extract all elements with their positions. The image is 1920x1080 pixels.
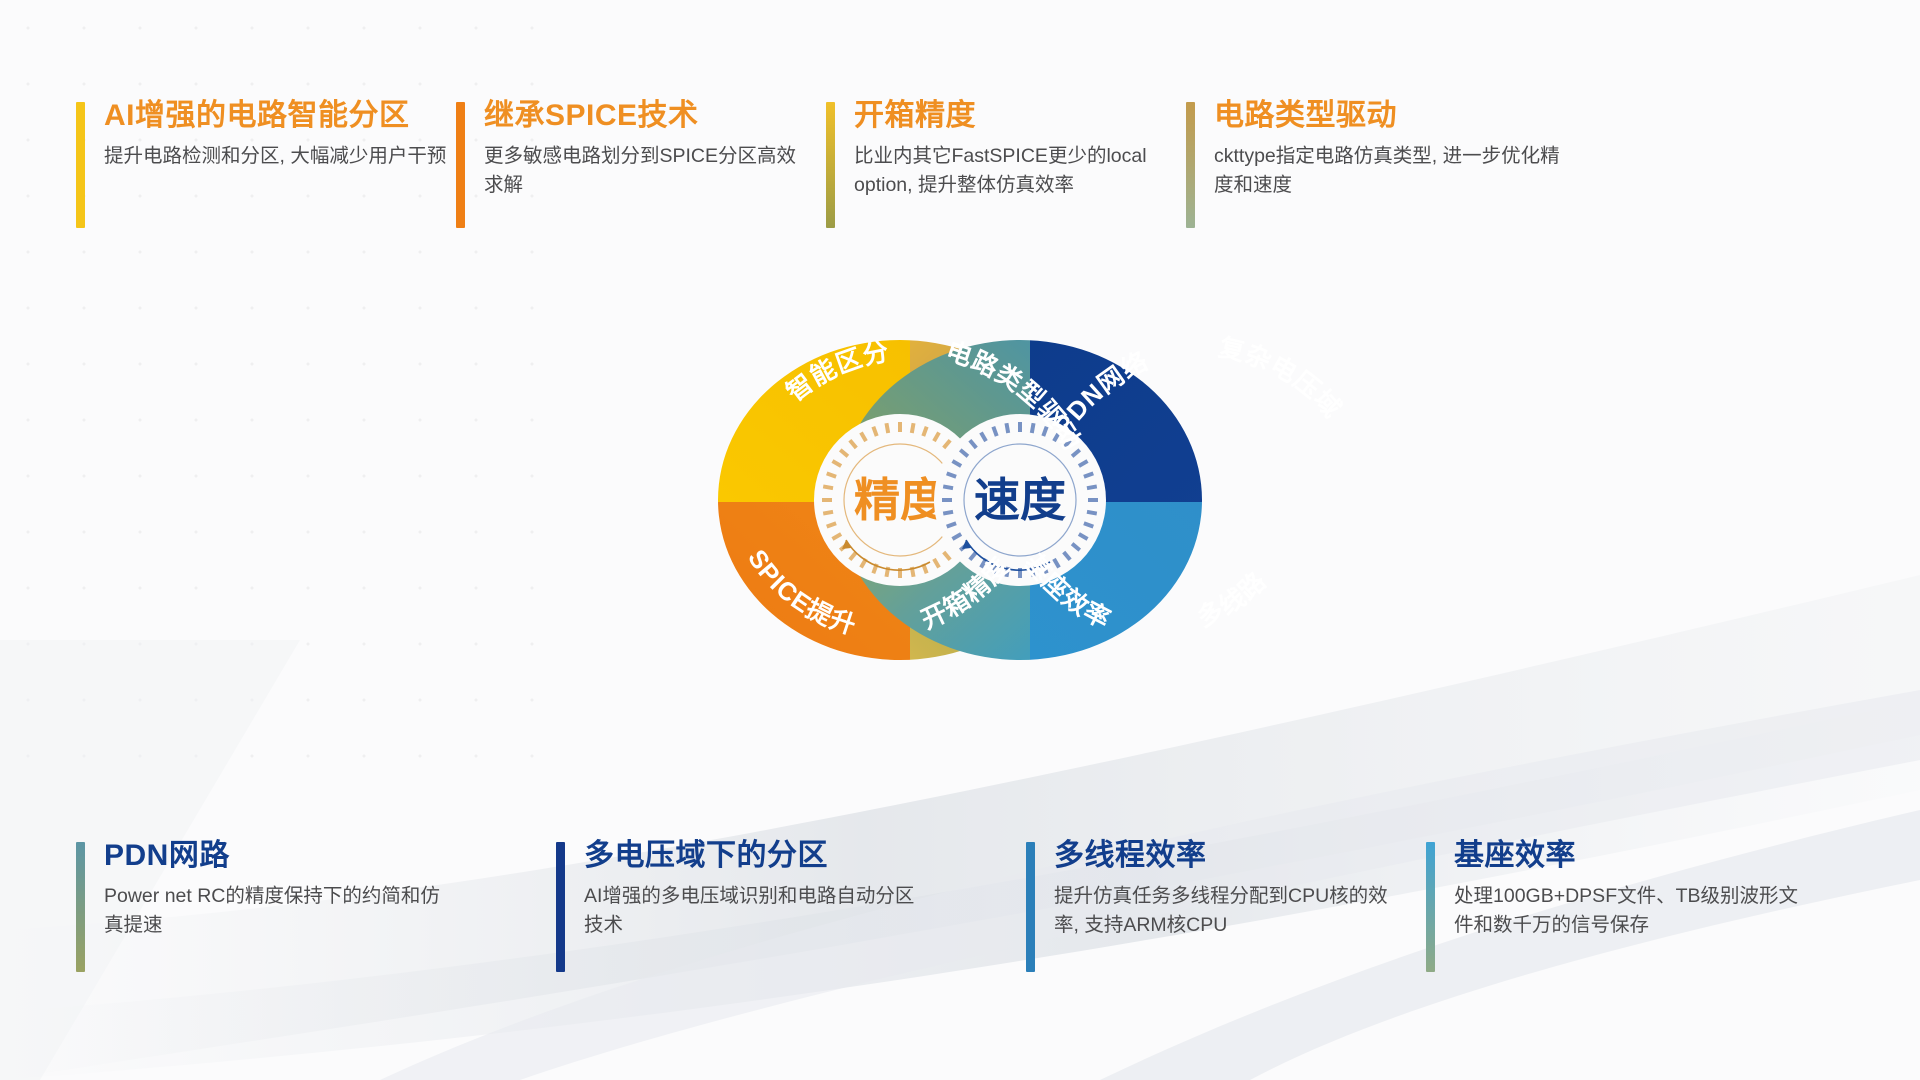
infinity-diagram: 精度 xyxy=(460,290,1460,710)
card-description: 比业内其它FastSPICE更少的local option, 提升整体仿真效率 xyxy=(854,142,1184,200)
card-title: 基座效率 xyxy=(1454,838,1826,873)
card-accent-bar xyxy=(76,102,85,228)
left-core-label: 精度 xyxy=(854,474,946,526)
infinity-svg: 精度 xyxy=(460,290,1460,710)
card-accent-bar xyxy=(1186,102,1195,228)
card-multithread-efficiency: 多线程效率 提升仿真任务多线程分配到CPU核的效率, 支持ARM核CPU xyxy=(1026,838,1426,940)
card-title: 继承SPICE技术 xyxy=(484,98,856,133)
card-accent-bar xyxy=(76,842,85,972)
card-ckttype-driven: 电路类型驱动 ckttype指定电路仿真类型, 进一步优化精度和速度 xyxy=(1186,98,1586,200)
card-out-of-box-accuracy: 开箱精度 比业内其它FastSPICE更少的local option, 提升整体… xyxy=(826,98,1226,200)
card-accent-bar xyxy=(826,102,835,228)
card-title: AI增强的电路智能分区 xyxy=(104,98,476,133)
card-title: 开箱精度 xyxy=(854,98,1226,133)
card-accent-bar xyxy=(1426,842,1435,972)
card-title: 多电压域下的分区 xyxy=(584,838,956,873)
segment-label-complex-voltage: 复杂电压域 xyxy=(1215,332,1347,423)
card-description: 提升仿真任务多线程分配到CPU核的效率, 支持ARM核CPU xyxy=(1054,882,1394,940)
card-base-efficiency: 基座效率 处理100GB+DPSF文件、TB级别波形文件和数千万的信号保存 xyxy=(1426,838,1826,940)
right-core-label: 速度 xyxy=(974,474,1066,526)
card-description: 提升电路检测和分区, 大幅减少用户干预 xyxy=(104,142,452,171)
card-title: 多线程效率 xyxy=(1054,838,1426,873)
card-description: ckttype指定电路仿真类型, 进一步优化精度和速度 xyxy=(1214,142,1569,200)
card-pdn-network: PDN网路 Power net RC的精度保持下的约简和仿真提速 xyxy=(76,838,476,940)
segment-label-multi-line: 多线路 xyxy=(1193,567,1272,633)
card-title: PDN网路 xyxy=(104,838,476,873)
card-description: 处理100GB+DPSF文件、TB级别波形文件和数千万的信号保存 xyxy=(1454,882,1809,940)
card-title: 电路类型驱动 xyxy=(1214,98,1586,133)
card-accent-bar xyxy=(556,842,565,972)
card-description: AI增强的多电压域识别和电路自动分区技术 xyxy=(584,882,924,940)
card-multi-voltage-partition: 多电压域下的分区 AI增强的多电压域识别和电路自动分区技术 xyxy=(556,838,956,940)
card-accent-bar xyxy=(456,102,465,228)
card-description: Power net RC的精度保持下的约简和仿真提速 xyxy=(104,882,454,940)
card-spice-inherit: 继承SPICE技术 更多敏感电路划分到SPICE分区高效求解 xyxy=(456,98,856,200)
card-description: 更多敏感电路划分到SPICE分区高效求解 xyxy=(484,142,814,200)
card-ai-partition: AI增强的电路智能分区 提升电路检测和分区, 大幅减少用户干预 xyxy=(76,98,476,171)
card-accent-bar xyxy=(1026,842,1035,972)
